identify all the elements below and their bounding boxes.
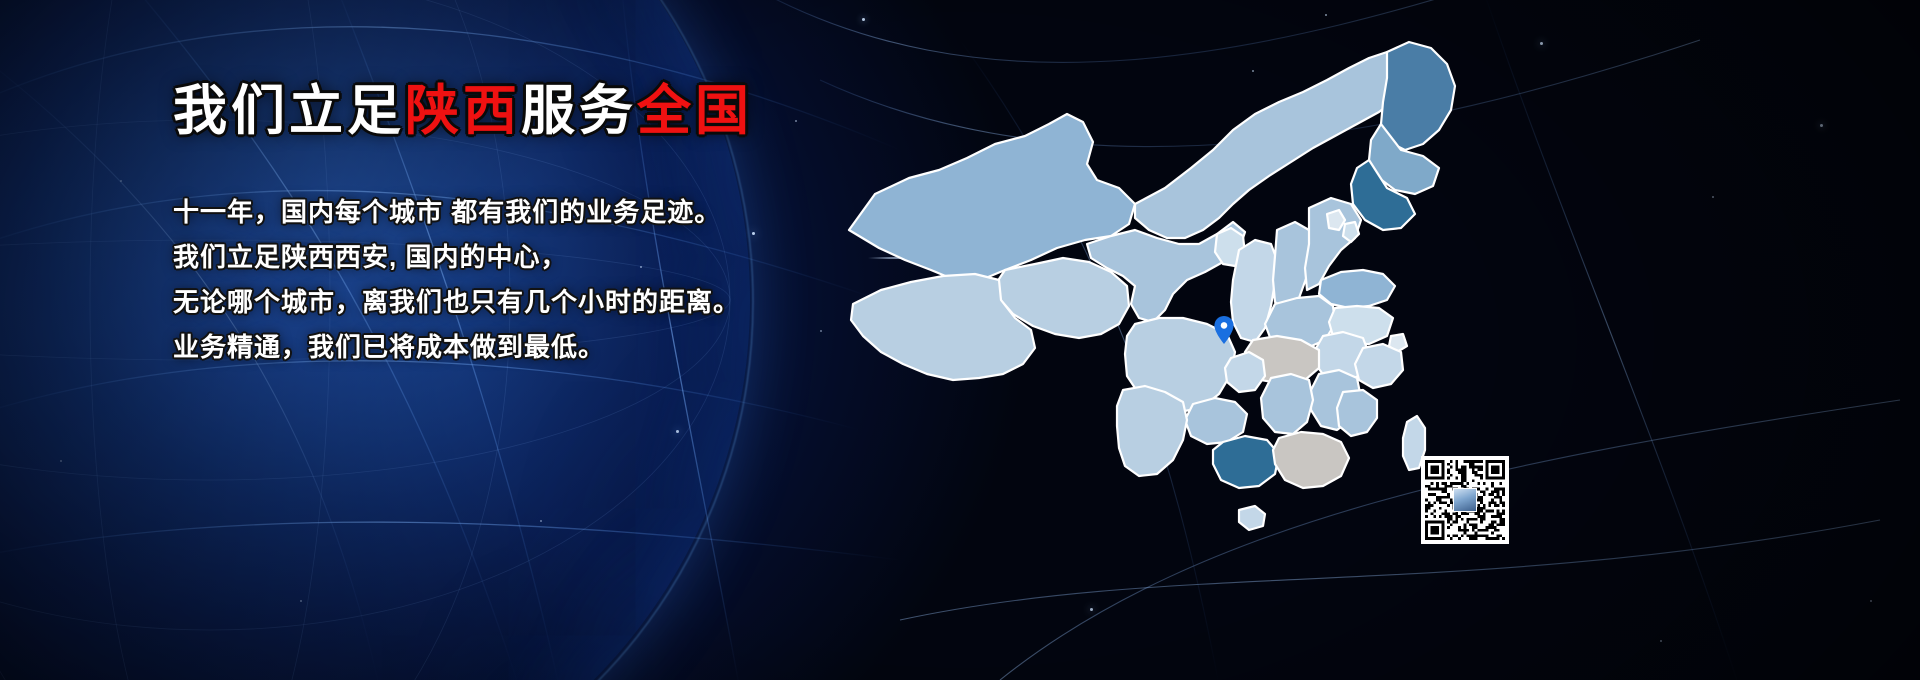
headline-segment-1: 我们立足 [173, 81, 405, 141]
headline-segment-4: 全国 [637, 81, 753, 141]
qr-center-logo [1453, 488, 1477, 512]
body-line: 无论哪个城市，离我们也只有几个小时的距离。 [173, 280, 933, 325]
banner-root: 我们立足陕西服务全国 十一年，国内每个城市 都有我们的业务足迹。 我们立足陕西西… [0, 0, 1920, 680]
wechat-qr-code[interactable] [1421, 456, 1509, 544]
headline-segment-2: 陕西 [405, 81, 521, 141]
china-map [835, 18, 1515, 578]
body-line: 业务精通，我们已将成本做到最低。 [173, 325, 933, 370]
body-copy: 十一年，国内每个城市 都有我们的业务足迹。 我们立足陕西西安, 国内的中心， 无… [173, 190, 933, 370]
body-line: 十一年，国内每个城市 都有我们的业务足迹。 [173, 190, 933, 235]
body-line: 我们立足陕西西安, 国内的中心， [173, 235, 933, 280]
copy-block: 我们立足陕西服务全国 十一年，国内每个城市 都有我们的业务足迹。 我们立足陕西西… [173, 84, 933, 370]
page-title: 我们立足陕西服务全国 [173, 84, 933, 138]
map-location-pin-icon [1214, 316, 1234, 344]
headline-segment-3: 服务 [521, 81, 637, 141]
